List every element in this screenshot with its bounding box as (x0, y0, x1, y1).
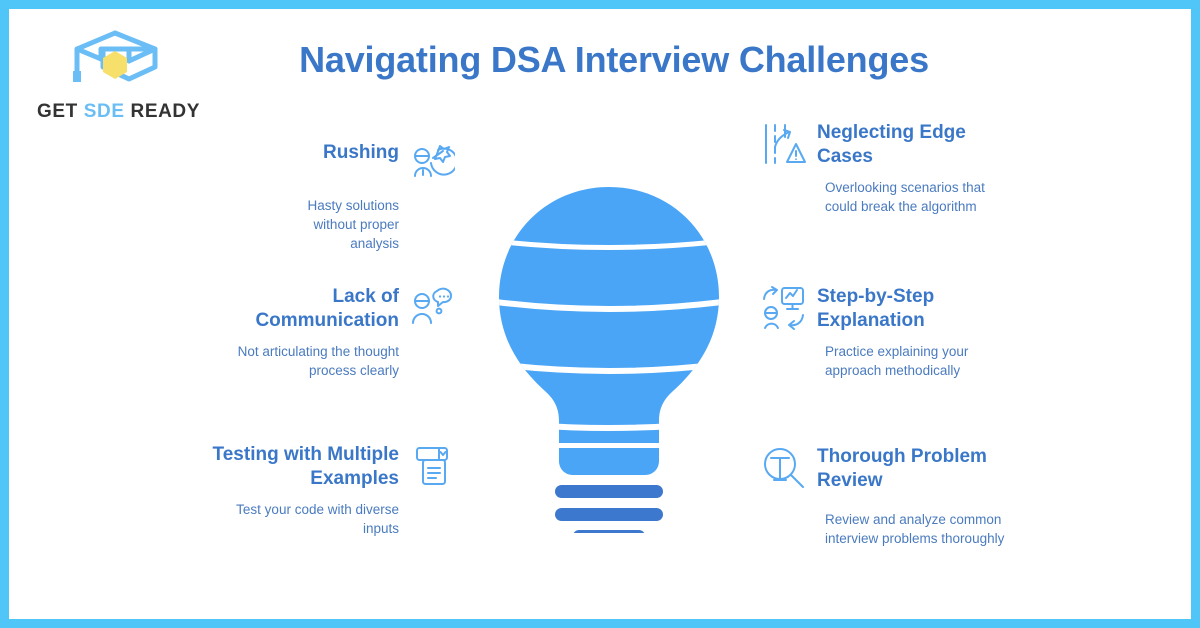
feature-thorough-problem-review: Thorough Problem Review Review and analy… (761, 445, 1011, 548)
feature-step-by-step-explanation: Step-by-Step Explanation Practice explai… (761, 285, 1011, 380)
brand-logo: GET SDE READY (31, 27, 206, 127)
feature-heading: Rushing (323, 141, 399, 165)
feature-header: Step-by-Step Explanation (761, 285, 1011, 333)
feature-rushing: Rushing Hasty solutions without proper a… (205, 141, 455, 253)
magnifier-text-icon (761, 445, 807, 491)
graduation-cap-hexagon-icon (67, 27, 163, 97)
person-monitor-arrows-icon (761, 285, 807, 331)
infographic-poster: GET SDE READY Navigating DSA Interview C… (0, 0, 1200, 628)
feature-testing-multiple-examples: Testing with Multiple Examples Test your… (205, 443, 455, 538)
document-checklist-icon (409, 443, 455, 489)
feature-lack-of-communication: Lack of Communication Not articulating t… (205, 285, 455, 380)
feature-description: Hasty solutions without proper analysis (205, 196, 455, 253)
feature-header: Neglecting Edge Cases (761, 121, 1011, 169)
feature-heading: Neglecting Edge Cases (817, 121, 1011, 169)
person-thought-bubble-icon (409, 285, 455, 331)
feature-header: Testing with Multiple Examples (205, 443, 455, 491)
feature-heading: Thorough Problem Review (817, 445, 1011, 493)
feature-description: Practice explaining your approach method… (761, 342, 1011, 380)
feature-header: Thorough Problem Review (761, 445, 1011, 493)
feature-description: Not articulating the thought process cle… (205, 342, 455, 380)
feature-description: Test your code with diverse inputs (205, 500, 455, 538)
brand-wordmark: GET SDE READY (31, 101, 206, 123)
road-warning-triangle-icon (761, 121, 807, 167)
feature-header: Rushing (205, 141, 455, 187)
feature-header: Lack of Communication (205, 285, 455, 333)
feature-heading: Testing with Multiple Examples (205, 443, 399, 491)
brand-word-sde: SDE (84, 101, 125, 122)
feature-heading: Lack of Communication (205, 285, 399, 333)
brand-word-ready: READY (131, 101, 201, 122)
feature-description: Overlooking scenarios that could break t… (761, 178, 1011, 216)
feature-heading: Step-by-Step Explanation (817, 285, 1011, 333)
feature-neglecting-edge-cases: Neglecting Edge Cases Overlooking scenar… (761, 121, 1011, 216)
lightbulb-illustration (477, 177, 741, 533)
person-rocket-speed-icon (409, 141, 455, 187)
page-title: Navigating DSA Interview Challenges (219, 39, 1009, 81)
feature-description: Review and analyze common interview prob… (761, 502, 1011, 548)
brand-word-get: GET (37, 101, 78, 122)
